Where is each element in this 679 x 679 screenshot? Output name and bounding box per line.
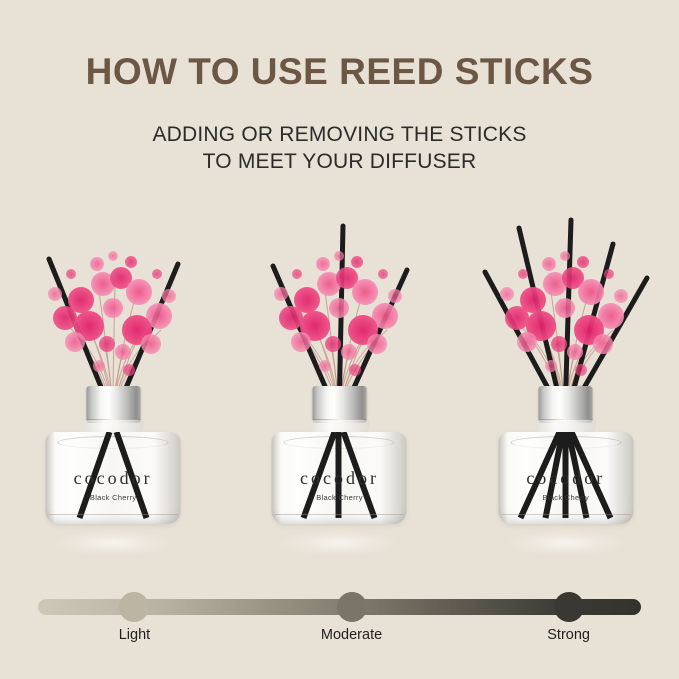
bottle-cap [539, 386, 593, 420]
bottle-cap [86, 386, 140, 420]
intensity-label-moderate: Moderate [321, 627, 382, 643]
bottle-glass-body: cocodor Black Cherry [46, 432, 181, 524]
bottle-scent-label: Black Cherry [272, 493, 407, 502]
bottle-reflection [507, 530, 625, 556]
intensity-dot-light[interactable] [119, 592, 149, 622]
intensity-dot-strong[interactable] [554, 592, 584, 622]
bottle-brand-label: cocodor [46, 468, 181, 489]
subtitle-line-1: ADDING OR REMOVING THE STICKS [0, 121, 679, 149]
page-title: HOW TO USE REED STICKS [0, 52, 679, 93]
diffuser-moderate: cocodor Black Cherry [237, 212, 442, 562]
diffuser-strong: cocodor Black Cherry [463, 212, 668, 562]
bottle-reflection [280, 530, 398, 556]
infographic-header: HOW TO USE REED STICKS ADDING OR REMOVIN… [0, 0, 679, 176]
intensity-track[interactable] [38, 599, 641, 615]
bottle-brand-label: cocodor [498, 468, 633, 489]
intensity-label-strong: Strong [547, 627, 590, 643]
product-comparison-row: cocodor Black Cherry [0, 212, 679, 562]
intensity-labels: Light Moderate Strong [38, 627, 641, 647]
page-subtitle: ADDING OR REMOVING THE STICKS TO MEET YO… [0, 121, 679, 176]
bottle-reflection [54, 530, 172, 556]
bottle-scent-label: Black Cherry [46, 493, 181, 502]
diffuser-bottle-light: cocodor Black Cherry [46, 386, 181, 526]
bottle-glass-body: cocodor Black Cherry [272, 432, 407, 524]
bottle-cap [312, 386, 366, 420]
intensity-dot-moderate[interactable] [337, 592, 367, 622]
intensity-label-light: Light [119, 627, 150, 643]
bottle-scent-label: Black Cherry [498, 493, 633, 502]
diffuser-bottle-strong: cocodor Black Cherry [498, 386, 633, 526]
diffuser-bottle-moderate: cocodor Black Cherry [272, 386, 407, 526]
bottle-brand-label: cocodor [272, 468, 407, 489]
bottle-glass-body: cocodor Black Cherry [498, 432, 633, 524]
diffuser-light: cocodor Black Cherry [11, 212, 216, 562]
intensity-scale: Light Moderate Strong [0, 599, 679, 647]
subtitle-line-2: TO MEET YOUR DIFFUSER [0, 148, 679, 176]
